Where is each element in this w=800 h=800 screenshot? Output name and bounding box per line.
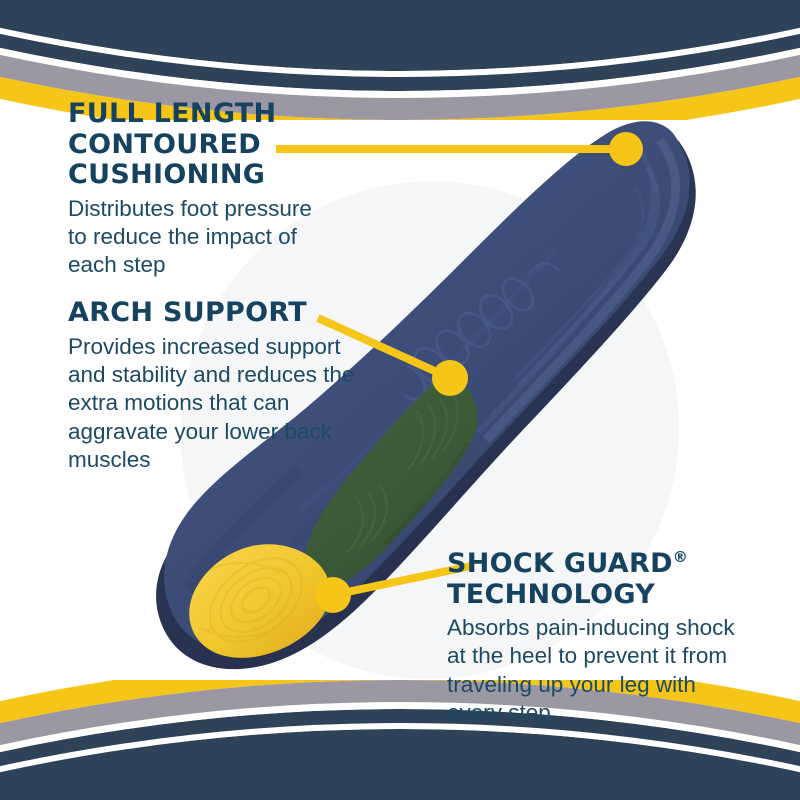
registered-trademark-symbol: ® <box>673 548 688 566</box>
callout-heading-shock-line1: SHOCK GUARD <box>447 548 673 579</box>
callout-shock-guard-technology: SHOCK GUARD®TECHNOLOGY Absorbs pain-indu… <box>447 549 755 727</box>
infographic-page: FULL LENGTH CONTOURED CUSHIONING Distrib… <box>0 0 800 800</box>
callout-arch-support: ARCH SUPPORT Provides increased support … <box>68 298 356 474</box>
callout-heading-arch: ARCH SUPPORT <box>68 298 356 329</box>
callout-body-cushioning: Distributes foot pressure to reduce the … <box>68 195 330 280</box>
callout-body-shock: Absorbs pain-inducing shock at the heel … <box>447 614 755 727</box>
callout-full-length-contoured-cushioning: FULL LENGTH CONTOURED CUSHIONING Distrib… <box>68 99 330 280</box>
callout-heading-shock: SHOCK GUARD®TECHNOLOGY <box>447 549 755 610</box>
callout-heading-shock-line2: TECHNOLOGY <box>447 579 655 610</box>
callout-body-arch: Provides increased support and stability… <box>68 333 356 475</box>
callout-heading-cushioning: FULL LENGTH CONTOURED CUSHIONING <box>68 99 330 191</box>
